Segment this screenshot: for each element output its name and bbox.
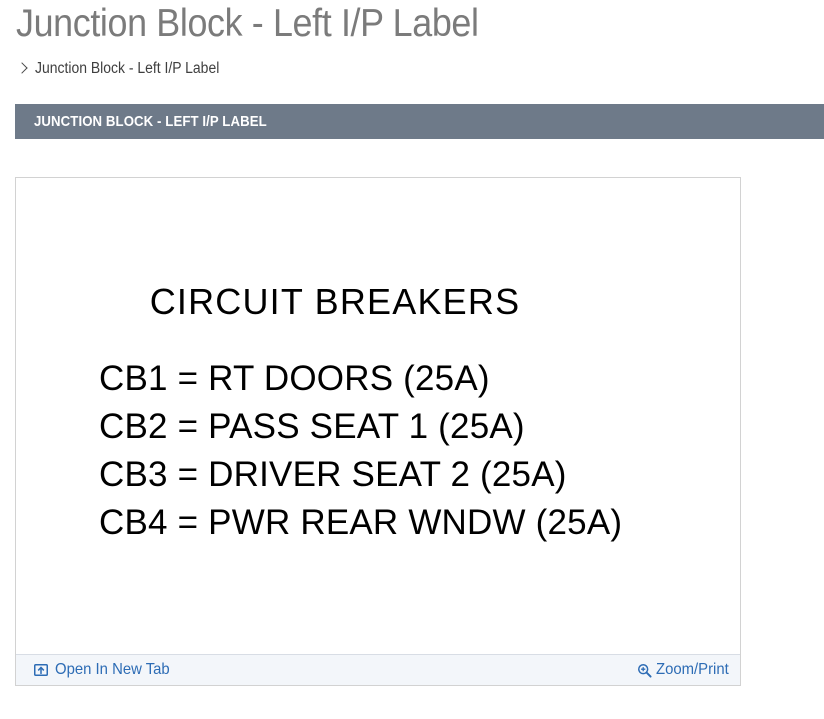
document-footer-toolbar: Open In New Tab Zoom/Print [16,654,740,685]
chevron-right-icon [17,61,29,77]
label-line-list: CB1 = RT DOORS (25A) CB2 = PASS SEAT 1 (… [99,355,622,547]
magnifier-plus-icon [637,663,652,678]
label-line-cb1: CB1 = RT DOORS (25A) [99,355,622,403]
open-in-new-tab-button[interactable]: Open In New Tab [34,655,178,685]
external-link-icon [34,663,48,677]
section-header-band: JUNCTION BLOCK - LEFT I/P LABEL [15,104,824,139]
circuit-breaker-label-image: CIRCUIT BREAKERS CB1 = RT DOORS (25A) CB… [16,178,740,655]
section-header-label: JUNCTION BLOCK - LEFT I/P LABEL [34,104,267,139]
label-heading: CIRCUIT BREAKERS [16,281,740,323]
breadcrumb: Junction Block - Left I/P Label [17,58,240,80]
document-viewport[interactable]: CIRCUIT BREAKERS CB1 = RT DOORS (25A) CB… [16,178,740,655]
label-line-cb3: CB3 = DRIVER SEAT 2 (25A) [99,451,622,499]
label-line-cb2: CB2 = PASS SEAT 1 (25A) [99,403,622,451]
breadcrumb-item-junction-block[interactable]: Junction Block - Left I/P Label [35,60,219,78]
label-line-cb4: CB4 = PWR REAR WNDW (25A) [99,499,622,547]
page-title: Junction Block - Left I/P Label [16,0,479,50]
zoom-print-label: Zoom/Print [656,661,729,679]
open-in-new-tab-label: Open In New Tab [55,661,170,679]
zoom-print-button[interactable]: Zoom/Print [637,655,734,685]
document-card: CIRCUIT BREAKERS CB1 = RT DOORS (25A) CB… [15,177,741,686]
